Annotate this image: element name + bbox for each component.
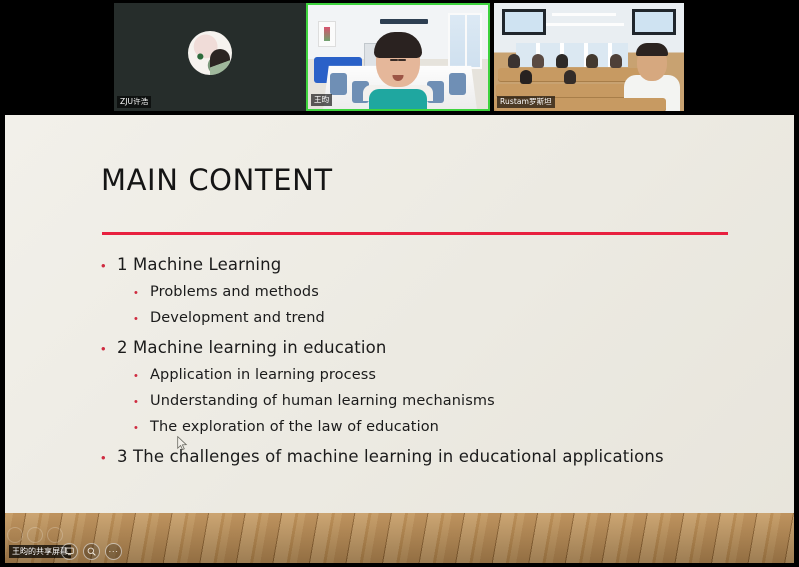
wall-poster-shape bbox=[318, 21, 336, 47]
bullet-dot-icon: • bbox=[101, 451, 117, 464]
bullet-dot-icon: • bbox=[134, 397, 150, 408]
zoom-control-button[interactable] bbox=[83, 543, 100, 560]
monitor-shape bbox=[502, 9, 546, 35]
student-figure bbox=[508, 54, 520, 68]
bullet-item: • Application in learning process bbox=[101, 367, 764, 383]
video-tile-participant-3[interactable]: Rustam罗斯坦 bbox=[494, 3, 684, 111]
ceiling-light-shape bbox=[546, 23, 624, 26]
bullet-item: • 3 The challenges of machine learning i… bbox=[101, 447, 764, 466]
view-options-button[interactable] bbox=[61, 543, 78, 560]
bullet-item: • Problems and methods bbox=[101, 284, 764, 300]
bullet-dot-icon: • bbox=[134, 423, 150, 434]
bullet-text: 1 Machine Learning bbox=[117, 255, 281, 274]
student-figure bbox=[520, 70, 532, 84]
ghost-circle-icon bbox=[27, 527, 43, 543]
bullet-text: Understanding of human learning mechanis… bbox=[150, 393, 495, 409]
bullet-item: • 1 Machine Learning bbox=[101, 255, 764, 274]
bullet-text: The exploration of the law of education bbox=[150, 419, 439, 435]
slide-bullet-list: • 1 Machine Learning • Problems and meth… bbox=[101, 243, 764, 466]
wall-unit-shape bbox=[380, 19, 428, 24]
bullet-item: • Development and trend bbox=[101, 310, 764, 326]
participant-name-label-3: Rustam罗斯坦 bbox=[497, 96, 555, 108]
slide-title: MAIN CONTENT bbox=[101, 163, 333, 197]
more-options-button[interactable]: ··· bbox=[105, 543, 122, 560]
title-underline-rule bbox=[102, 232, 728, 235]
bullet-item: • 2 Machine learning in education bbox=[101, 338, 764, 357]
bullet-text: Problems and methods bbox=[150, 284, 319, 300]
ghost-circle-icon bbox=[47, 527, 63, 543]
bullet-dot-icon: • bbox=[134, 314, 150, 325]
student-figure bbox=[586, 54, 598, 68]
ellipsis-icon: ··· bbox=[108, 547, 118, 556]
video-frame-2 bbox=[308, 5, 488, 109]
participant-video-strip: ZJU许浩 bbox=[0, 0, 799, 115]
bullet-text: 2 Machine learning in education bbox=[117, 338, 386, 357]
bullet-dot-icon: • bbox=[134, 371, 150, 382]
bullet-item: • The exploration of the law of educatio… bbox=[101, 419, 764, 435]
student-figure bbox=[556, 54, 568, 68]
inactive-control-cluster bbox=[7, 527, 63, 543]
video-frame-3 bbox=[494, 3, 684, 111]
bullet-dot-icon: • bbox=[101, 342, 117, 355]
student-figure bbox=[610, 54, 622, 68]
participant-name-label-1: ZJU许浩 bbox=[117, 96, 151, 108]
avatar bbox=[188, 31, 232, 75]
magnifier-icon bbox=[87, 547, 96, 556]
chair-shape bbox=[449, 73, 466, 95]
floating-control-bar: ··· bbox=[61, 543, 122, 560]
ceiling-light-shape bbox=[552, 13, 616, 16]
meeting-window: ZJU许浩 bbox=[0, 0, 799, 567]
ghost-circle-icon bbox=[7, 527, 23, 543]
bullet-text: 3 The challenges of machine learning in … bbox=[117, 447, 664, 466]
participant-name-label-2: 王昀 bbox=[311, 94, 332, 106]
bullet-item: • Understanding of human learning mechan… bbox=[101, 393, 764, 409]
bullet-text: Application in learning process bbox=[150, 367, 376, 383]
person-figure bbox=[366, 35, 430, 109]
wood-floor-background: 王昀的共享屏幕 ··· bbox=[5, 513, 794, 563]
student-figure bbox=[564, 70, 576, 84]
monitor-shape bbox=[632, 9, 676, 35]
video-tile-participant-1[interactable]: ZJU许浩 bbox=[114, 3, 306, 111]
screen-icon bbox=[65, 547, 74, 556]
bullet-dot-icon: • bbox=[134, 288, 150, 299]
chair-shape bbox=[330, 73, 347, 95]
video-tile-participant-2[interactable]: 王昀 bbox=[306, 3, 490, 111]
bullet-text: Development and trend bbox=[150, 310, 325, 326]
window-shape bbox=[448, 13, 482, 69]
student-figure bbox=[532, 54, 544, 68]
bullet-dot-icon: • bbox=[101, 259, 117, 272]
shared-screen-slide[interactable]: MAIN CONTENT • 1 Machine Learning • Prob… bbox=[5, 115, 794, 513]
